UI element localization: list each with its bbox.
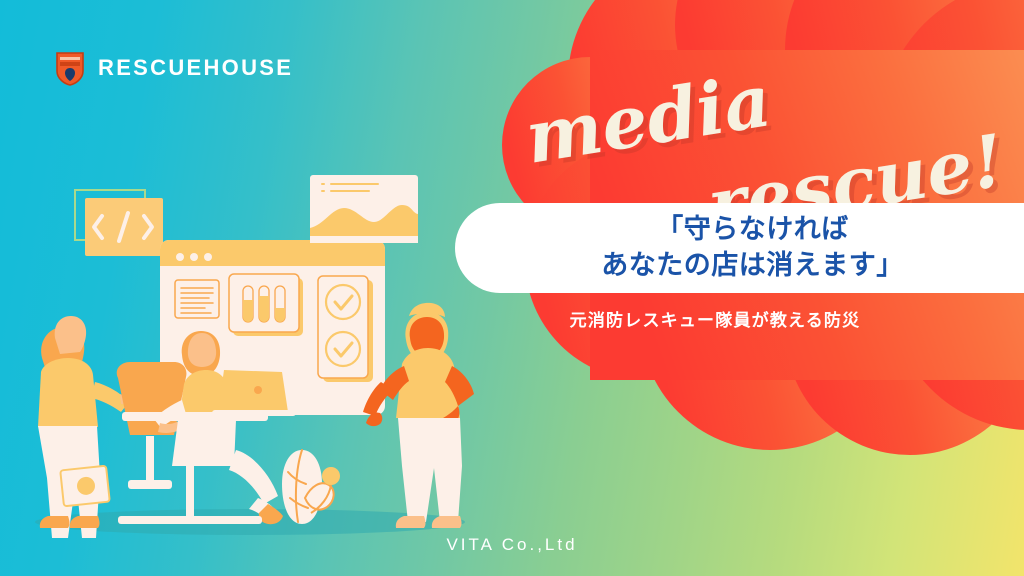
brand-logo[interactable]: RESCUEHOUSE [55,50,293,86]
headline-banner: 「守らなければ あなたの店は消えます」 [455,203,1024,293]
headline-line-2: あなたの店は消えます」 [601,248,904,284]
slide-canvas: RESCUEHOUSE media rescue! 「守らなければ あなたの店は… [0,0,1024,576]
hero-subtitle: 元消防レスキュー隊員が教える防災 [455,306,975,331]
footer-company: VITA Co.,Ltd [0,535,1024,555]
shield-badge-icon [55,50,85,86]
brand-name: RESCUEHOUSE [98,57,293,79]
headline-line-1: 「守らなければ [656,212,849,248]
hero-illustration [0,150,500,550]
